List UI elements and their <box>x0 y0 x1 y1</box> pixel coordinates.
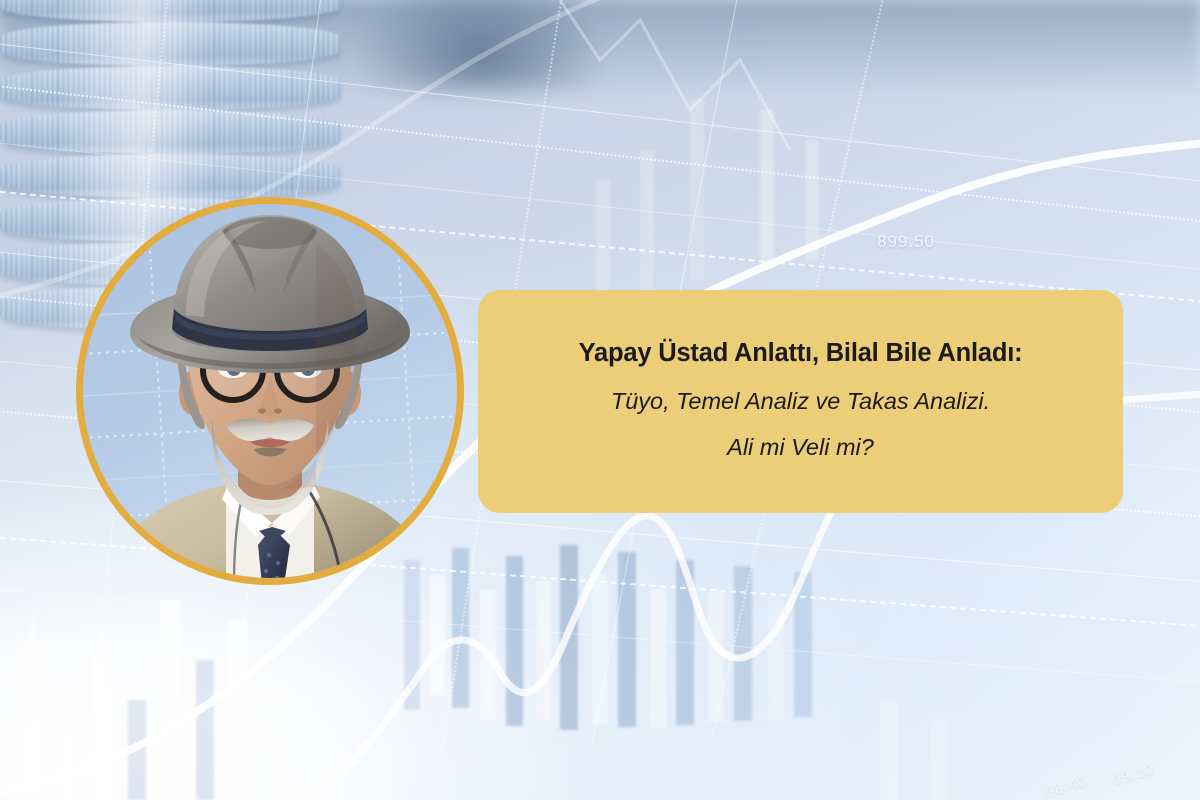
avatar-portrait-icon <box>83 204 457 578</box>
image-canvas: 899.50 08:40 09:10 <box>0 0 1200 800</box>
title-card: Yapay Üstad Anlattı, Bilal Bile Anladı: … <box>478 290 1123 513</box>
chart-price-label: 899.50 <box>877 232 935 252</box>
card-subline-1: Tüyo, Temel Analiz ve Takas Analizi. <box>611 387 990 415</box>
card-subline-2: Ali mi Veli mi? <box>727 433 874 461</box>
avatar <box>76 197 464 585</box>
card-headline: Yapay Üstad Anlattı, Bilal Bile Anladı: <box>579 338 1023 369</box>
